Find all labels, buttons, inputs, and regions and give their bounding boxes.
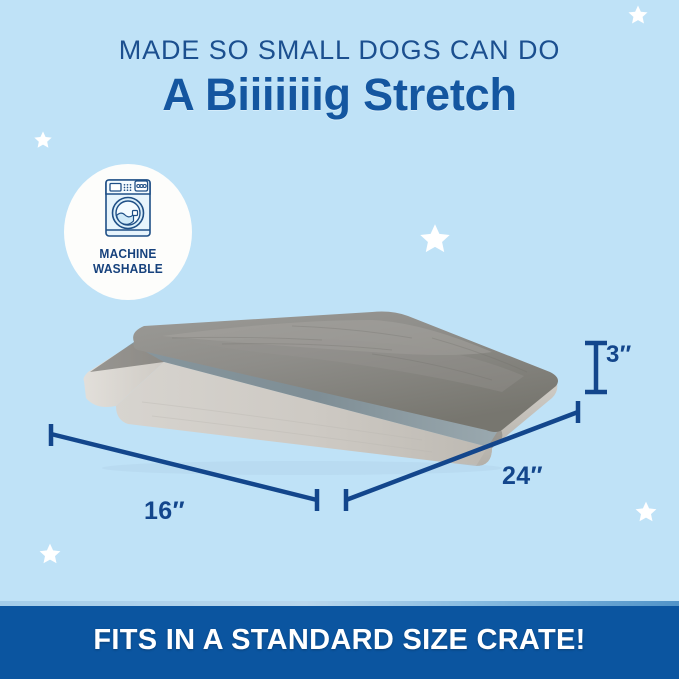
banner-top-strip bbox=[0, 601, 679, 606]
machine-washable-badge: MACHINE WASHABLE bbox=[64, 164, 192, 300]
banner-text: FITS IN A STANDARD SIZE CRATE! bbox=[93, 624, 585, 657]
star-icon bbox=[627, 4, 649, 26]
star-icon bbox=[634, 500, 658, 524]
dimension-label-width: 16″ bbox=[144, 497, 185, 526]
badge-label: MACHINE WASHABLE bbox=[93, 247, 163, 276]
badge-label-line-1: MACHINE bbox=[93, 247, 163, 262]
product-image bbox=[72, 306, 572, 476]
headline-line-1: MADE SO SMALL DOGS CAN DO bbox=[0, 36, 679, 64]
star-icon bbox=[33, 130, 53, 150]
star-icon bbox=[38, 542, 62, 566]
dimension-label-length: 24″ bbox=[502, 462, 543, 491]
bottom-banner: FITS IN A STANDARD SIZE CRATE! bbox=[0, 601, 679, 679]
dimension-label-height: 3″ bbox=[606, 341, 632, 369]
product-infographic: MADE SO SMALL DOGS CAN DO A Biiiiiiig St… bbox=[0, 0, 679, 679]
washing-machine-icon bbox=[102, 178, 154, 240]
headline-line-2: A Biiiiiiig Stretch bbox=[0, 70, 679, 120]
star-icon bbox=[418, 222, 452, 256]
dog-bed-mattress-illustration bbox=[72, 306, 572, 476]
headline-block: MADE SO SMALL DOGS CAN DO A Biiiiiiig St… bbox=[0, 36, 679, 121]
badge-label-line-2: WASHABLE bbox=[93, 262, 163, 277]
